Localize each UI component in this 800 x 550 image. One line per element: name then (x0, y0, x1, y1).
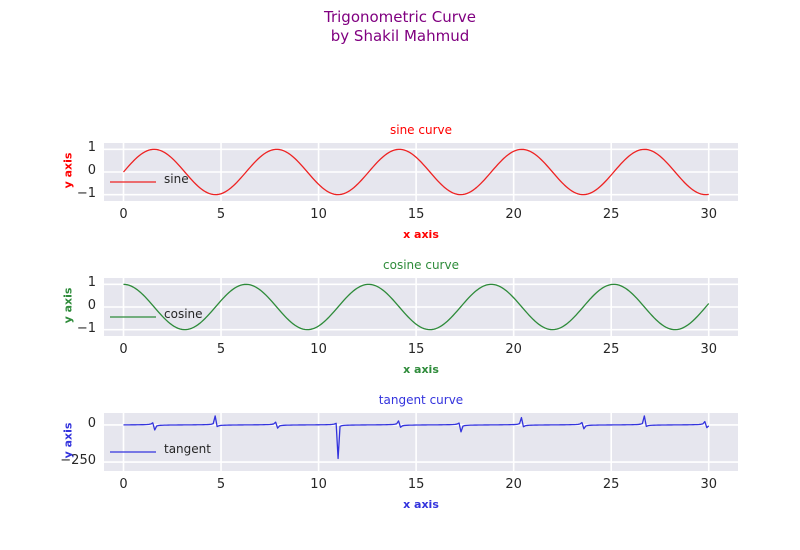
subplot-tangent: tangent curvex axisy axis051015202530−25… (104, 413, 738, 471)
legend-label-cosine: cosine (164, 307, 203, 321)
legend-line-sample-tangent (110, 450, 156, 454)
x-axis-label-cosine: x axis (104, 363, 738, 376)
legend-label-tangent: tangent (164, 442, 211, 456)
subplot-title-tangent: tangent curve (104, 393, 738, 407)
y-tick-label: 0 (42, 416, 96, 431)
x-tick-label: 10 (294, 207, 344, 222)
x-axis-label-tangent: x axis (104, 498, 738, 511)
x-tick-label: 5 (196, 207, 246, 222)
x-tick-label: 15 (391, 342, 441, 357)
y-tick-label: 0 (42, 163, 96, 178)
x-tick-label: 30 (684, 342, 734, 357)
x-tick-label: 20 (489, 207, 539, 222)
x-tick-label: 15 (391, 207, 441, 222)
y-tick-label: −1 (42, 321, 96, 336)
x-tick-label: 25 (586, 342, 636, 357)
y-tick-label: 0 (42, 298, 96, 313)
legend-line-sample-sine (110, 180, 156, 184)
y-tick-label: 1 (42, 140, 96, 155)
legend-line-sample-cosine (110, 315, 156, 319)
x-tick-label: 5 (196, 477, 246, 492)
y-tick-label: −1 (42, 186, 96, 201)
x-tick-label: 25 (586, 207, 636, 222)
figure-title: Trigonometric Curve by Shakil Mahmud (0, 8, 800, 46)
x-tick-label: 0 (99, 207, 149, 222)
plot-area-sine (104, 143, 738, 201)
x-tick-label: 10 (294, 477, 344, 492)
x-tick-label: 25 (586, 477, 636, 492)
x-tick-label: 20 (489, 477, 539, 492)
x-tick-label: 30 (684, 477, 734, 492)
x-tick-label: 5 (196, 342, 246, 357)
subplot-cosine: cosine curvex axisy axis051015202530−101… (104, 278, 738, 336)
subplot-title-sine: sine curve (104, 123, 738, 137)
x-tick-label: 15 (391, 477, 441, 492)
subplot-title-cosine: cosine curve (104, 258, 738, 272)
x-tick-label: 20 (489, 342, 539, 357)
matplotlib-figure: Trigonometric Curve by Shakil Mahmud sin… (0, 0, 800, 550)
y-tick-label: −250 (42, 453, 96, 468)
x-tick-label: 0 (99, 342, 149, 357)
x-tick-label: 30 (684, 207, 734, 222)
y-tick-label: 1 (42, 275, 96, 290)
x-tick-label: 0 (99, 477, 149, 492)
legend-label-sine: sine (164, 172, 189, 186)
x-axis-label-sine: x axis (104, 228, 738, 241)
subplot-sine: sine curvex axisy axis051015202530−101si… (104, 143, 738, 201)
x-tick-label: 10 (294, 342, 344, 357)
